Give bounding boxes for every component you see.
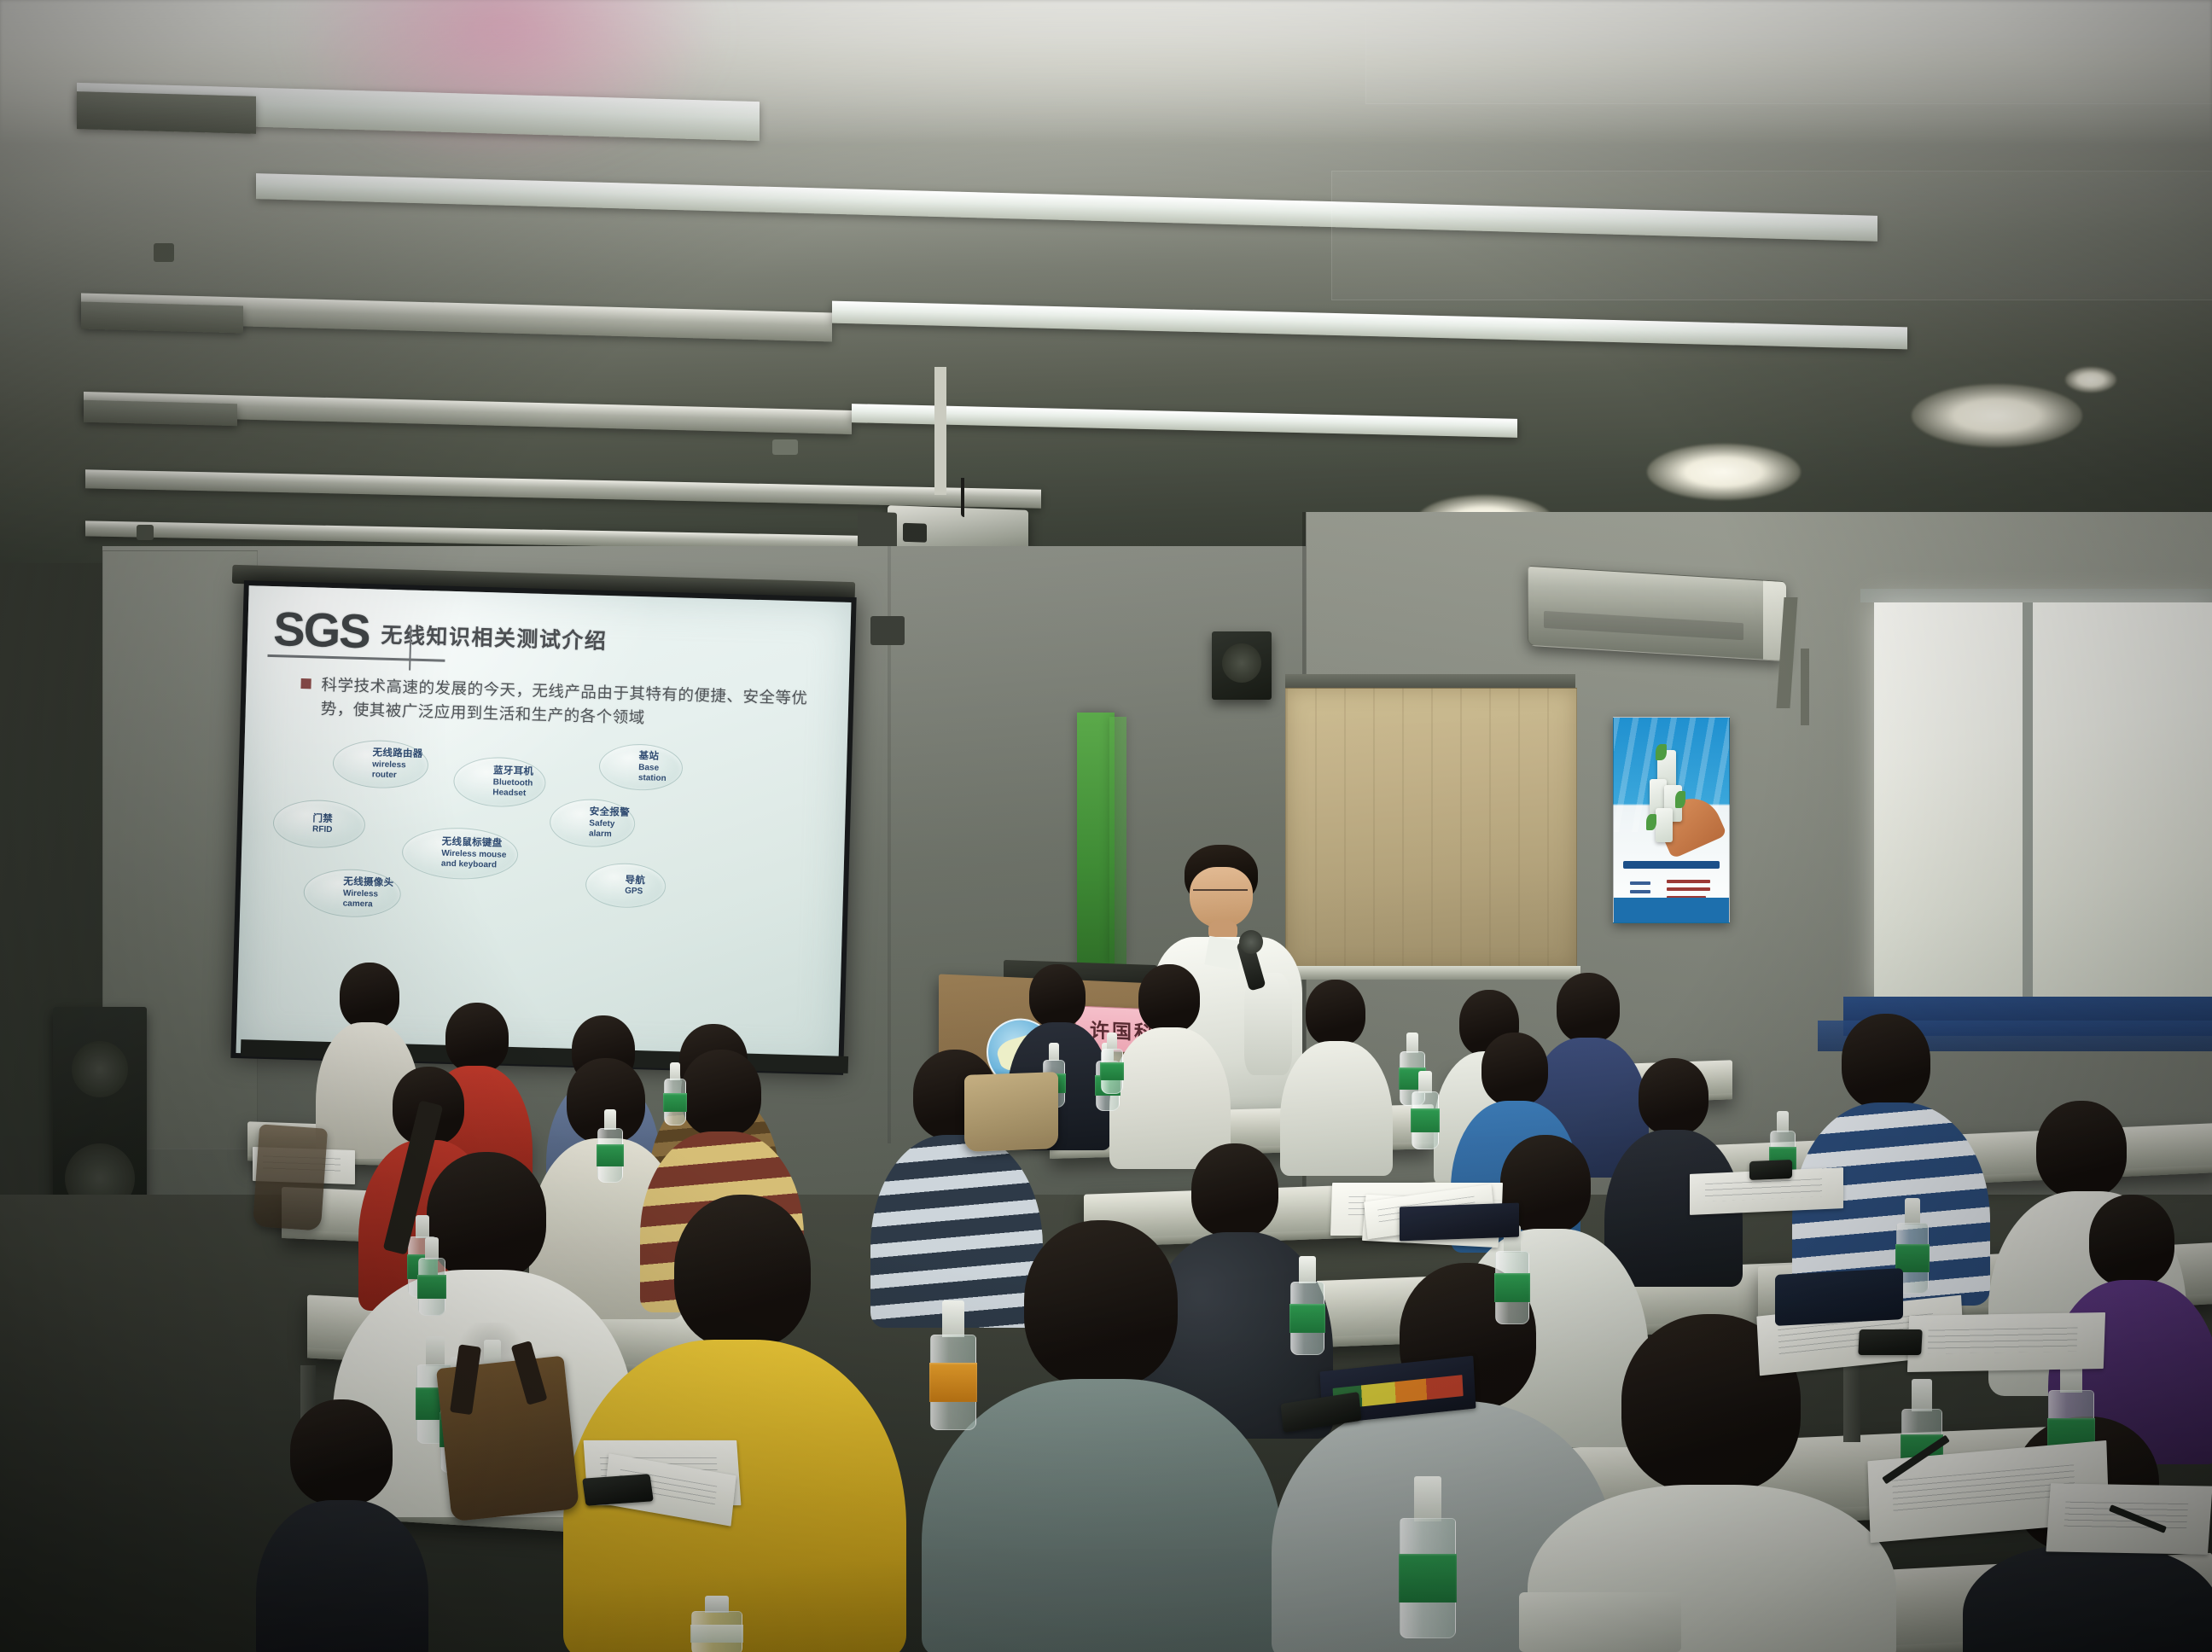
window bbox=[1874, 602, 2212, 1003]
bottle-cap bbox=[416, 1215, 429, 1238]
ceiling-tile bbox=[1365, 0, 2212, 104]
bottle-cap bbox=[1912, 1379, 1931, 1411]
bottle-cap bbox=[705, 1596, 730, 1613]
bubble-base-station: 基站 Base station bbox=[598, 743, 683, 792]
window-mullion bbox=[2023, 602, 2033, 1003]
attendee-head bbox=[1306, 980, 1365, 1046]
bottle-cap bbox=[1107, 1032, 1118, 1050]
bottle-cap bbox=[1905, 1198, 1920, 1224]
wall-poster bbox=[1613, 717, 1730, 923]
attendee-head bbox=[681, 1050, 761, 1137]
bubble-label-en: Safety alarm bbox=[589, 818, 634, 841]
attendee-front-left-dark bbox=[256, 1399, 427, 1652]
attendee-body bbox=[256, 1500, 428, 1652]
attendee-front-yellow bbox=[563, 1195, 905, 1652]
bag bbox=[253, 1124, 328, 1230]
bottle-cap bbox=[1418, 1071, 1431, 1093]
bottle-cap bbox=[1406, 1032, 1418, 1053]
bubble-wireless-mouse-keyboard: 无线鼠标键盘 Wireless mouse and keyboard bbox=[401, 826, 519, 881]
window-blinds bbox=[1285, 688, 1577, 971]
ceiling-tile bbox=[1331, 171, 2212, 300]
water-bottle bbox=[1412, 1071, 1439, 1149]
water-bottle bbox=[1101, 1032, 1123, 1094]
ceiling-downlight bbox=[1912, 384, 2082, 447]
wall-sensor bbox=[870, 616, 905, 645]
attendee-back-6 bbox=[1109, 964, 1229, 1160]
mobile-phone bbox=[1858, 1329, 1922, 1355]
water-bottle bbox=[1290, 1256, 1324, 1355]
attendee-striped-shirt bbox=[1792, 1014, 1988, 1295]
handout-paper bbox=[1907, 1312, 2105, 1372]
notebook bbox=[1400, 1203, 1519, 1242]
speaker-cone-icon bbox=[72, 1041, 128, 1097]
attendee-head bbox=[2036, 1101, 2127, 1198]
ceiling-beam-dark bbox=[84, 400, 237, 426]
bubble-gps: 导航 GPS bbox=[585, 862, 666, 909]
bottle-cap bbox=[1777, 1111, 1789, 1132]
attendee-back-7 bbox=[1280, 980, 1391, 1167]
ceiling-beam-dark bbox=[81, 302, 243, 334]
water-bottle bbox=[1495, 1225, 1529, 1324]
bottle-label bbox=[690, 1625, 743, 1643]
bubble-label-zh: 安全报警 bbox=[590, 806, 635, 820]
microphone-head bbox=[1239, 930, 1263, 954]
bubble-wireless-camera: 无线摄像头 Wireless camera bbox=[303, 868, 402, 918]
attendee-front-center bbox=[922, 1220, 1280, 1652]
water-bottle bbox=[1400, 1476, 1456, 1638]
bullet-marker-icon bbox=[300, 678, 311, 689]
ceiling-beam-dark bbox=[77, 91, 256, 134]
bottle-cap bbox=[1414, 1476, 1441, 1521]
ceiling-sensor bbox=[137, 525, 154, 540]
ac-pipe bbox=[1801, 649, 1809, 725]
attendee-head bbox=[1639, 1058, 1708, 1135]
backpack bbox=[436, 1356, 579, 1522]
bottle-cap bbox=[1299, 1256, 1315, 1283]
bubble-label-en: GPS bbox=[625, 887, 665, 899]
attendee-head bbox=[2089, 1195, 2174, 1287]
poster-footer-band bbox=[1614, 898, 1729, 922]
bubble-label-zh: 导航 bbox=[625, 874, 665, 887]
bottle-label bbox=[597, 1144, 624, 1166]
attendee-head bbox=[340, 963, 399, 1029]
bubble-rfid: 门禁 RFID bbox=[272, 799, 366, 849]
slide-title: 无线知识相关测试介绍 bbox=[381, 618, 608, 658]
slide-bullet-text: 科学技术高速的发展的今天，无线产品由于其特有的便捷、安全等优势，使其被广泛应用到… bbox=[320, 672, 823, 736]
window-frame-top bbox=[1860, 589, 2212, 602]
classroom-photo: SGS 无线知识相关测试介绍 科学技术高速的发展的今天，无线产品由于其特有的便捷… bbox=[0, 0, 2212, 1652]
bottle-cap bbox=[942, 1300, 964, 1337]
ceiling-sensor bbox=[154, 243, 174, 262]
water-bottle bbox=[597, 1109, 623, 1183]
bottle-label bbox=[1100, 1062, 1124, 1081]
ac-vent bbox=[1544, 611, 1743, 641]
poster-leaf-icon bbox=[1675, 791, 1685, 807]
slide-header: SGS 无线知识相关测试介绍 bbox=[273, 608, 825, 665]
poster-detail-line bbox=[1667, 887, 1710, 891]
bottle-cap bbox=[1049, 1043, 1060, 1061]
bubble-label-en: wireless router bbox=[372, 759, 428, 782]
attendee-head bbox=[445, 1003, 509, 1073]
attendee-head bbox=[1138, 964, 1200, 1032]
chair-back bbox=[1775, 1268, 1903, 1326]
poster-detail-line bbox=[1667, 880, 1710, 883]
bottle-label bbox=[1494, 1273, 1530, 1303]
handbag bbox=[964, 1072, 1058, 1152]
attendee-head bbox=[1024, 1220, 1178, 1387]
bubble-wireless-router: 无线路由器 wireless router bbox=[332, 739, 429, 789]
bottle-label bbox=[1399, 1554, 1457, 1603]
bottle-label bbox=[417, 1275, 446, 1299]
projector-mount-pole bbox=[934, 367, 946, 495]
bubble-label-en: Bluetooth Headset bbox=[492, 777, 544, 800]
air-conditioner-unit bbox=[1528, 566, 1785, 661]
water-bottle bbox=[691, 1596, 742, 1652]
ceiling-sensor bbox=[772, 439, 798, 455]
projector-cable bbox=[961, 478, 964, 517]
projector-lens bbox=[903, 523, 927, 543]
bottle-label bbox=[929, 1363, 977, 1402]
slide-bubble-diagram: 无线路由器 wireless router 蓝牙耳机 Bluetooth Hea… bbox=[265, 732, 822, 935]
bottle-label bbox=[663, 1093, 687, 1112]
attendee-head bbox=[674, 1195, 811, 1348]
water-bottle-orange bbox=[930, 1300, 976, 1430]
bubble-label-en: Wireless mouse and keyboard bbox=[441, 848, 517, 871]
bubble-label-en: RFID bbox=[312, 824, 364, 836]
water-bottle bbox=[418, 1237, 445, 1316]
wall-speaker-small bbox=[1212, 631, 1272, 700]
poster-product bbox=[1656, 808, 1673, 843]
ceiling-downlight bbox=[1647, 444, 1801, 500]
poster-leaf-icon bbox=[1646, 814, 1656, 830]
attendee-head bbox=[1481, 1032, 1548, 1106]
bubble-safety-alarm: 安全报警 Safety alarm bbox=[549, 798, 636, 848]
bubble-label-en: Base station bbox=[638, 763, 682, 785]
attendee-head bbox=[1842, 1014, 1930, 1109]
bubble-label-zh: 基站 bbox=[638, 750, 682, 764]
poster-headline bbox=[1623, 861, 1720, 869]
poster-detail-line bbox=[1630, 881, 1650, 885]
chair-back bbox=[1519, 1592, 1681, 1652]
poster-detail-line bbox=[1630, 890, 1650, 893]
bottle-cap bbox=[425, 1237, 438, 1259]
ceiling-downlight bbox=[2065, 367, 2116, 393]
speaker-cone-icon bbox=[1222, 643, 1261, 683]
glasses-icon bbox=[1193, 889, 1248, 891]
bottle-label bbox=[1411, 1108, 1440, 1132]
bottle-label bbox=[1289, 1304, 1325, 1334]
mobile-phone bbox=[1749, 1160, 1792, 1180]
attendee-head bbox=[290, 1399, 393, 1505]
attendee-body bbox=[1963, 1544, 2212, 1652]
sgs-logo: SGS bbox=[273, 608, 370, 652]
bottle-cap bbox=[670, 1062, 681, 1080]
slide-bullet-row: 科学技术高速的发展的今天，无线产品由于其特有的便捷、安全等优势，使其被广泛应用到… bbox=[271, 672, 823, 736]
water-bottle bbox=[664, 1062, 686, 1126]
mobile-phone bbox=[582, 1474, 654, 1506]
bottle-cap bbox=[604, 1109, 616, 1130]
green-wall-banner bbox=[1109, 717, 1126, 964]
bubble-bluetooth-headset: 蓝牙耳机 Bluetooth Headset bbox=[453, 756, 547, 808]
attendee-head bbox=[1029, 964, 1086, 1027]
bubble-label-en: Wireless camera bbox=[342, 888, 399, 911]
